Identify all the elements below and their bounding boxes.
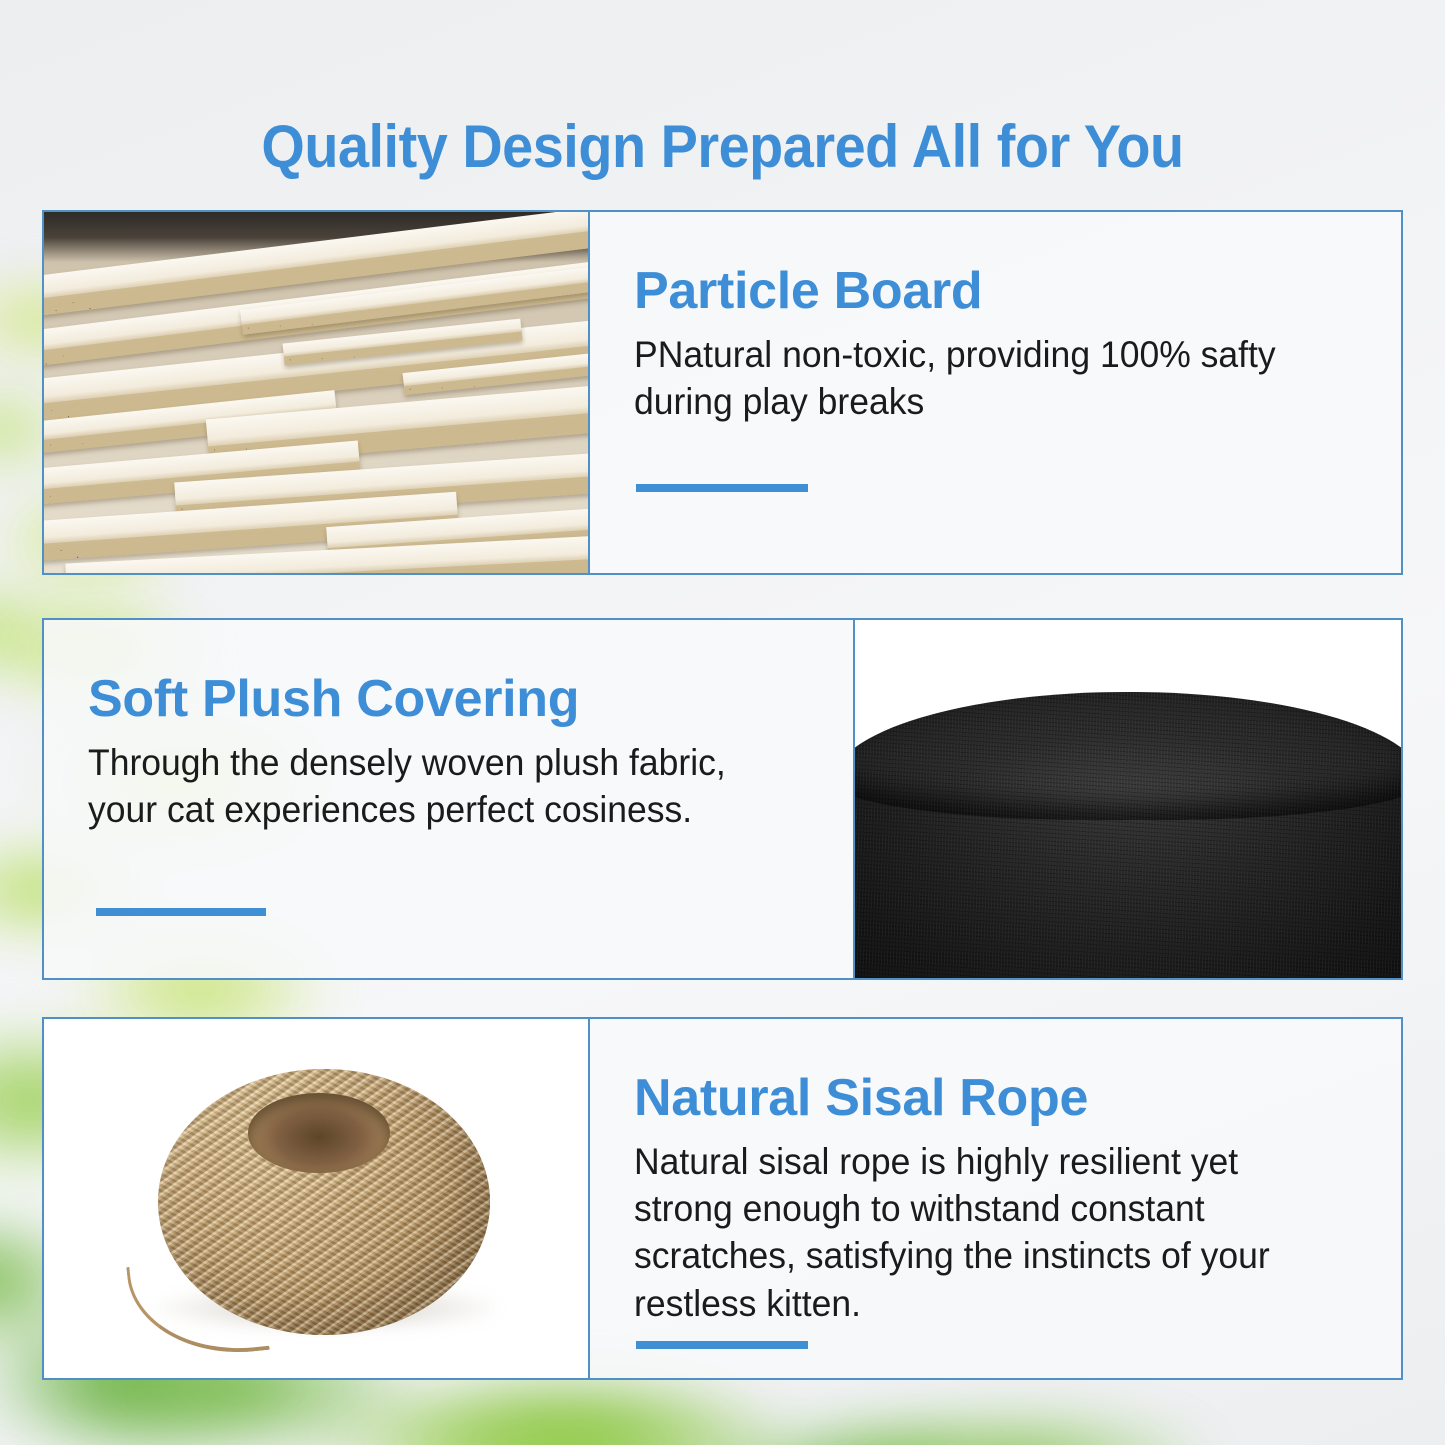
card-text-natural-sisal-rope: Natural sisal rope is highly resilient y… xyxy=(634,1138,1326,1327)
sisal-rope-image xyxy=(44,1019,588,1378)
feature-card-soft-plush-covering: Soft Plush Covering Through the densely … xyxy=(42,618,1403,980)
soft-plush-text-panel: Soft Plush Covering Through the densely … xyxy=(44,620,855,978)
particle-board-text-panel: Particle Board PNatural non-toxic, provi… xyxy=(588,212,1401,573)
accent-bar-particle-board xyxy=(636,484,808,492)
card-text-particle-board: PNatural non-toxic, providing 100% safty… xyxy=(634,331,1326,426)
card-text-soft-plush-covering: Through the densely woven plush fabric, … xyxy=(88,739,778,834)
card-heading-particle-board: Particle Board xyxy=(634,264,1355,319)
rope-loose-end xyxy=(126,1253,269,1364)
plush-texture-rim xyxy=(855,692,1401,821)
sisal-rope-artwork xyxy=(44,1019,588,1378)
rope-ball-center-hollow xyxy=(248,1093,391,1173)
sisal-rope-text-panel: Natural Sisal Rope Natural sisal rope is… xyxy=(588,1019,1401,1378)
card-heading-natural-sisal-rope: Natural Sisal Rope xyxy=(634,1071,1355,1126)
feature-card-natural-sisal-rope: Natural Sisal Rope Natural sisal rope is… xyxy=(42,1017,1403,1380)
page-title: Quality Design Prepared All for You xyxy=(51,112,1395,181)
plush-bed-rim xyxy=(855,692,1401,821)
plush-bed-artwork xyxy=(855,620,1401,978)
accent-bar-natural-sisal-rope xyxy=(636,1341,808,1349)
black-plush-bed-image xyxy=(855,620,1401,978)
particle-board-artwork xyxy=(44,212,588,573)
particle-board-image xyxy=(44,212,588,573)
infographic-page: Quality Design Prepared All for You Part… xyxy=(0,0,1445,1445)
feature-card-particle-board: Particle Board PNatural non-toxic, provi… xyxy=(42,210,1403,575)
card-heading-soft-plush-covering: Soft Plush Covering xyxy=(88,672,807,727)
accent-bar-soft-plush-covering xyxy=(96,908,266,916)
